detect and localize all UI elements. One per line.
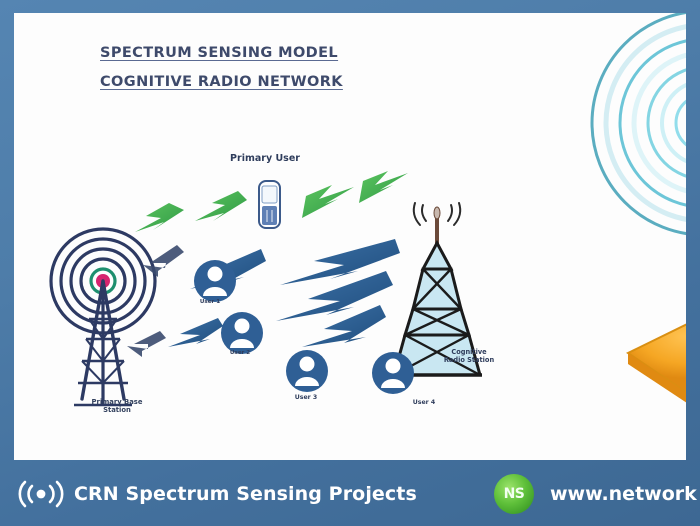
footer-bar: CRN Spectrum Sensing Projects NS www.net…	[0, 462, 700, 526]
user-avatar-4	[372, 352, 414, 394]
broadcast-icon	[18, 479, 64, 509]
primary-base-station-icon	[51, 229, 155, 405]
ns-logo-icon: NS	[494, 474, 534, 514]
label-primary-base-station-line1: Primary Base	[92, 398, 143, 406]
label-user-1: User 1	[182, 299, 238, 305]
user-avatar-1	[194, 260, 236, 302]
label-primary-base-station-line2: Station	[103, 406, 131, 414]
label-cognitive-radio-station-line2: Radio Station	[444, 356, 494, 364]
user-avatar-2	[221, 312, 263, 354]
network-diagram-graphic	[14, 13, 686, 460]
footer-title: CRN Spectrum Sensing Projects	[74, 483, 417, 505]
footer-branding: NS www.network	[494, 462, 697, 526]
label-cognitive-radio-station: Cognitive Radio Station	[422, 349, 516, 364]
label-user-4: User 4	[396, 399, 452, 406]
label-user-2: User 2	[212, 350, 268, 356]
concentric-rings-decoration	[592, 13, 686, 235]
diagram-card: SPECTRUM SENSING MODEL COGNITIVE RADIO N…	[14, 13, 686, 460]
screenshot-root: SPECTRUM SENSING MODEL COGNITIVE RADIO N…	[0, 0, 700, 526]
footer-url[interactable]: www.network	[550, 483, 697, 505]
feedback-arrows	[127, 245, 184, 357]
primary-user-phone-icon	[259, 181, 280, 228]
orange-tablet-device	[628, 311, 686, 405]
label-primary-base-station: Primary Base Station	[62, 399, 172, 415]
user-avatar-3	[286, 350, 328, 392]
label-primary-user: Primary User	[210, 154, 320, 165]
label-user-3: User 3	[278, 394, 334, 401]
